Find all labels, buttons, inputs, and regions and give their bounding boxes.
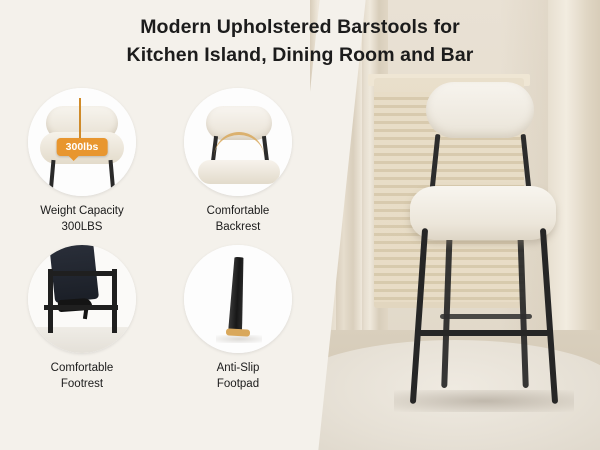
feature-label-line-2: 300LBS [40,220,124,236]
page-title: Modern Upholstered Barstools for Kitchen… [0,0,600,70]
feature-comfortable-footrest: Comfortable Footrest [10,245,154,392]
feature-weight-capacity: 300lbs Weight Capacity 300LBS [10,88,154,235]
stool-leg-rear-right [517,228,529,388]
stool-leg-rear-left [441,228,453,388]
feature-image-footpad [184,245,292,353]
title-line-2: Kitchen Island, Dining Room and Bar [0,41,600,69]
feature-label-line-2: Backrest [207,220,270,236]
footrest-frame-right [112,269,117,333]
barstool-photo [388,78,578,408]
stool-footrest-rail [418,330,550,336]
product-infographic: Modern Upholstered Barstools for Kitchen… [0,0,600,450]
feature-label-line-1: Anti-Slip [217,362,260,374]
title-heading: Modern Upholstered Barstools for Kitchen… [0,13,600,70]
feature-comfortable-backrest: Comfortable Backrest [166,88,310,235]
feature-label-line-2: Footpad [217,377,260,393]
feature-image-footrest [28,245,136,353]
feature-label-line-1: Comfortable [51,362,114,374]
arrow-icon [79,98,81,138]
footpad-ring [226,328,250,336]
footrest-legs-icon [44,305,118,310]
feature-grid: 300lbs Weight Capacity 300LBS [10,88,310,443]
backrest-seat-shape [198,160,280,184]
feature-label-weight-capacity: Weight Capacity 300LBS [40,204,124,235]
feature-label-footrest: Comfortable Footrest [51,361,114,392]
footrest-floor [28,327,136,353]
feature-label-footpad: Anti-Slip Footpad [217,361,260,392]
stool-leg-front-right [540,228,558,404]
feature-label-line-2: Footrest [51,377,114,393]
feature-label-line-1: Weight Capacity [40,205,124,217]
footrest-upper-rail [50,271,112,276]
feature-image-backrest [184,88,292,196]
footrest-frame-left [48,269,53,333]
feature-label-backrest: Comfortable Backrest [207,204,270,235]
feature-anti-slip-footpad: Anti-Slip Footpad [166,245,310,392]
feature-label-line-1: Comfortable [207,205,270,217]
stool-shadow [394,390,574,412]
feature-image-weight-capacity: 300lbs [28,88,136,196]
stool-backrest [426,82,534,138]
title-line-1: Modern Upholstered Barstools for [0,13,600,41]
weight-badge: 300lbs [57,138,108,156]
stool-rail-rear [440,314,532,319]
stool-leg-front-left [410,228,428,404]
stool-seat [410,186,556,240]
footpad-shadow [216,335,262,343]
